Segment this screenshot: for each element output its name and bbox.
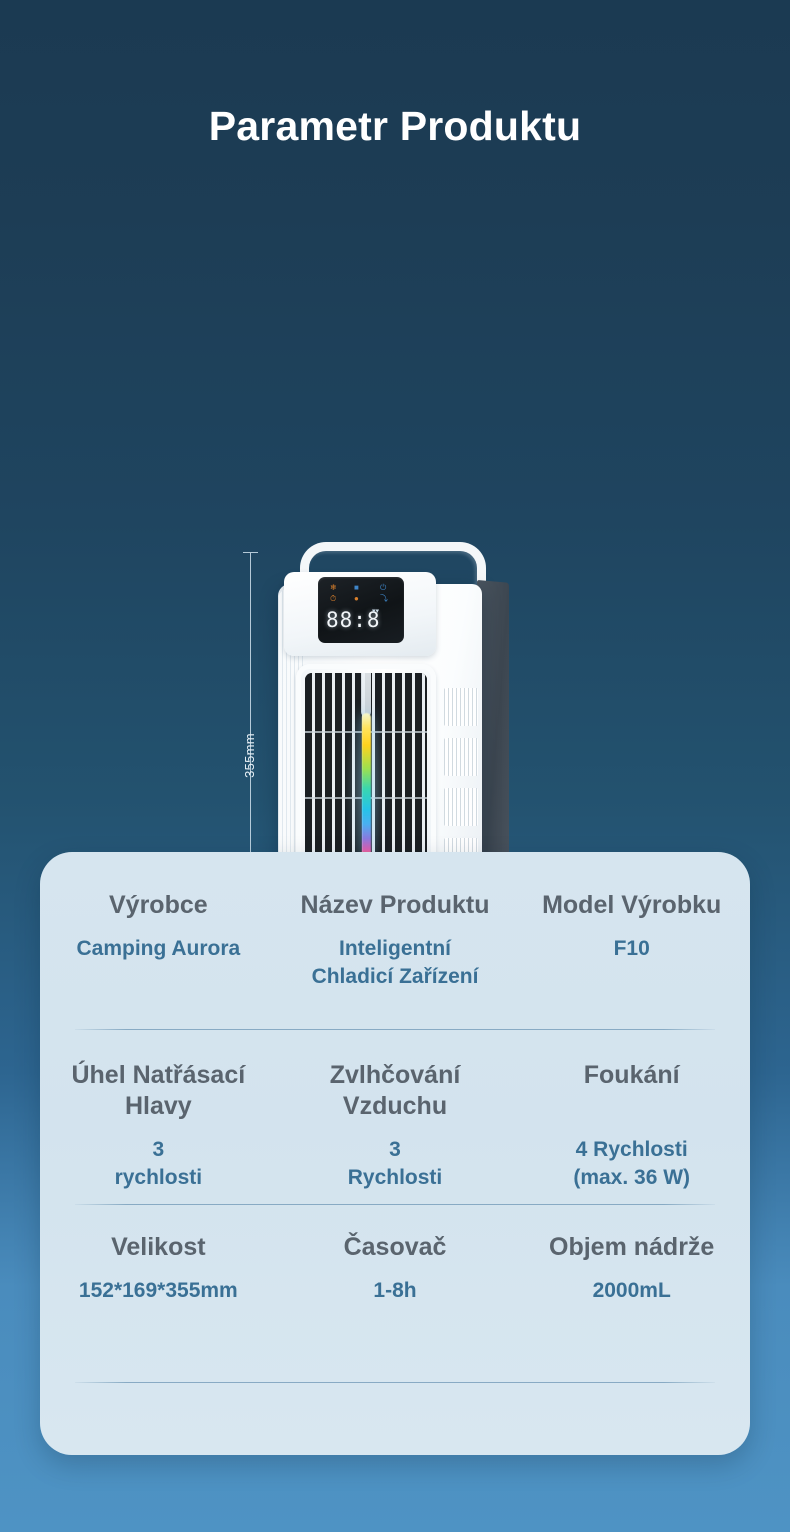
spec-value: 1-8h [277,1277,514,1305]
spec-header: Zvlhčování Vzduchu [277,1060,514,1122]
row-divider [75,1204,715,1205]
snowflake-icon[interactable]: ❄ [330,584,337,592]
display-indicator-icon: ▾▾ [372,608,379,616]
spec-header: Název Produktu [277,890,514,921]
spec-value: 4 Rychlosti (max. 36 W) [513,1136,750,1192]
spec-row-headers: Úhel Natřásací Hlavy Zvlhčování Vzduchu … [40,1060,750,1122]
page-title: Parametr Produktu [0,103,790,150]
spec-row-headers: Výrobce Název Produktu Model Výrobku [40,890,750,921]
spec-row-values: Camping Aurora Inteligentní Chladicí Zař… [40,935,750,991]
side-vent-icon [444,788,478,826]
row-divider [75,1029,715,1030]
timer-icon[interactable]: ⏱ [330,595,336,603]
spec-row-values: 3 rychlosti 3 Rychlosti 4 Rychlosti (max… [40,1136,750,1192]
spec-row-headers: Velikost Časovač Objem nádrže [40,1232,750,1263]
spec-header: Výrobce [40,890,277,921]
spec-value: F10 [513,935,750,991]
spec-row-values: 152*169*355mm 1-8h 2000mL [40,1277,750,1305]
spec-value: 3 rychlosti [40,1136,277,1192]
height-dimension-label: 355mm [242,733,257,778]
power-icon[interactable]: ⏻ [380,584,386,592]
spec-value: 2000mL [513,1277,750,1305]
spec-header: Časovač [277,1232,514,1263]
humidity-icon[interactable]: ■ [354,584,359,592]
water-drop-icon[interactable]: ● [354,595,359,603]
control-panel[interactable]: ❄ ■ ⏻ ⏱ ● ⤵ 88:8 ▾▾ [318,577,404,643]
air-outlet-grille [305,673,427,865]
rgb-light-strip [362,713,371,859]
control-panel-icons: ❄ ■ ⏻ ⏱ ● ⤵ [326,584,396,606]
spec-value: Inteligentní Chladicí Zařízení [277,935,514,991]
spec-header: Foukání [513,1060,750,1122]
spec-row: Výrobce Název Produktu Model Výrobku Cam… [40,890,750,991]
spec-header: Objem nádrže [513,1232,750,1263]
spec-value: 152*169*355mm [40,1277,277,1305]
spec-row: Velikost Časovač Objem nádrže 152*169*35… [40,1232,750,1305]
spec-row: Úhel Natřásací Hlavy Zvlhčování Vzduchu … [40,1060,750,1192]
spec-value: Camping Aurora [40,935,277,991]
spec-header: Model Výrobku [513,890,750,921]
side-vent-icon [444,738,478,776]
digital-display: 88:8 [326,607,396,633]
product-image-stage: 355mm 152mm 169mm ❄ ■ ⏻ ⏱ ● ⤵ 88:8 ▾▾ [0,260,790,820]
spec-header: Velikost [40,1232,277,1263]
row-divider [75,1382,715,1383]
spec-header: Úhel Natřásací Hlavy [40,1060,277,1122]
spec-value: 3 Rychlosti [277,1136,514,1192]
fan-speed-icon[interactable]: ⤵ [380,595,388,603]
spec-card: Výrobce Název Produktu Model Výrobku Cam… [40,852,750,1455]
side-vent-icon [444,688,478,726]
